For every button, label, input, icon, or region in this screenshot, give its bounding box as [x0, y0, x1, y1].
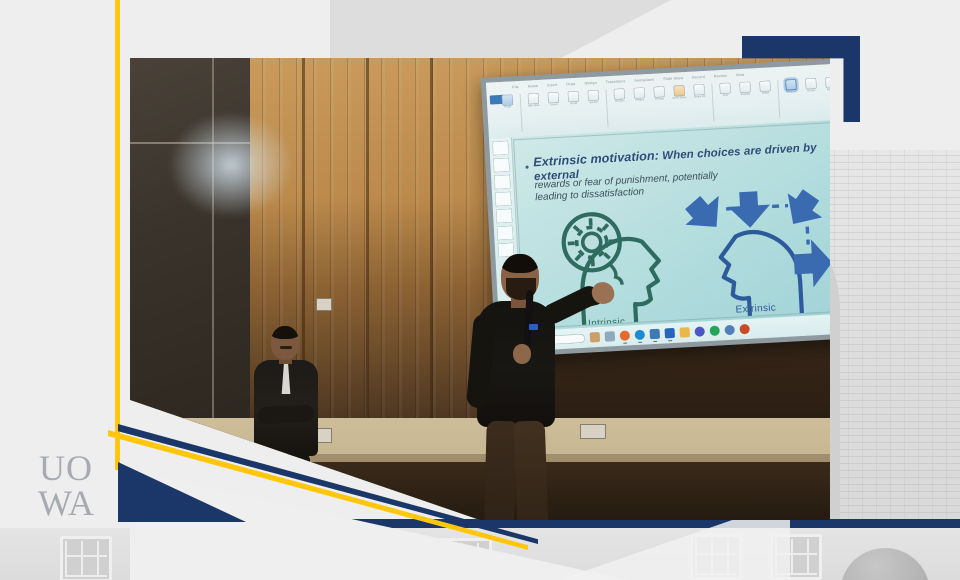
folder-icon[interactable]	[679, 327, 690, 338]
reset-icon	[568, 91, 580, 103]
inward-arrows-icon	[676, 185, 830, 295]
settings-icon[interactable]	[724, 325, 735, 336]
ribbon-button-quick-styles[interactable]: Quick Styles	[671, 85, 687, 101]
quick-styles-icon	[673, 85, 685, 97]
widgets-icon[interactable]	[590, 332, 601, 343]
uowa-logo: UO WA	[30, 452, 102, 520]
ribbon-tab[interactable]: File	[512, 85, 519, 89]
ribbon-tab[interactable]: Review	[714, 73, 727, 78]
attendee-arms-crossed	[258, 405, 315, 425]
ribbon-button-find[interactable]: Find	[717, 82, 733, 98]
ribbon-tab[interactable]: Insert	[547, 82, 557, 87]
arrange-icon	[653, 86, 665, 98]
slide-thumbnail[interactable]	[496, 209, 513, 224]
teams-icon[interactable]	[694, 326, 705, 337]
dark-tile-wall	[130, 58, 250, 426]
add-ins-icon	[825, 77, 830, 89]
slide-thumbnail[interactable]	[494, 175, 511, 190]
powerpoint-icon[interactable]	[739, 324, 750, 335]
file-explorer-icon[interactable]	[605, 331, 616, 342]
section-icon	[588, 90, 600, 102]
ribbon-button-shapes[interactable]: Shapes	[631, 87, 647, 103]
ribbon-button-replace[interactable]: Replace	[737, 81, 753, 97]
ribbon-button-shape-fill[interactable]: Shape Fill	[691, 84, 707, 100]
ribbon-button-reset[interactable]: Reset	[566, 91, 582, 107]
ribbon-tab[interactable]: Draw	[566, 81, 575, 85]
attendee-hair	[271, 326, 299, 339]
find-icon	[719, 83, 731, 95]
firefox-icon[interactable]	[620, 330, 631, 341]
text-box-icon	[613, 88, 625, 100]
ribbon-group-drawing: Text Box Shapes Arrange	[606, 84, 714, 128]
slide-thumbnail[interactable]	[497, 226, 514, 241]
outlook-icon[interactable]	[665, 328, 676, 339]
ribbon-button-layout[interactable]: Layout	[546, 92, 562, 108]
select-icon	[759, 80, 771, 92]
ribbon-group-designer: Designer Dictate Add-ins	[778, 75, 830, 118]
panel-joint	[366, 58, 369, 426]
shrub	[840, 548, 930, 580]
slide-thumbnail[interactable]	[495, 192, 512, 207]
navy-divider-rule	[300, 519, 960, 528]
store-icon[interactable]	[650, 329, 661, 340]
yellow-vertical-accent	[115, 0, 120, 470]
new-slide-icon	[528, 93, 540, 105]
slide-thumbnail[interactable]	[492, 141, 509, 156]
ribbon-tab[interactable]: Record	[692, 74, 705, 79]
presenter-leg-right	[514, 420, 550, 520]
presenter-mic-hand	[513, 344, 531, 364]
ribbon-button-new-slide[interactable]: New Slide	[526, 93, 542, 109]
extrinsic-label: Extrinsic	[735, 302, 776, 315]
wall-socket-plate	[580, 424, 606, 439]
attendee-moustache	[280, 346, 292, 349]
ribbon-tab[interactable]: Transitions	[606, 79, 626, 84]
ribbon-button-add-ins[interactable]: Add-ins	[823, 77, 830, 93]
ribbon-tab[interactable]: View	[736, 72, 745, 76]
ribbon-tab[interactable]: Animations	[634, 77, 654, 82]
presenter-hair	[501, 254, 539, 273]
ribbon-button-paste[interactable]: Paste	[500, 94, 516, 110]
event-photo: File Home Insert Draw Design Transitions…	[130, 58, 830, 520]
ribbon-button-dictate[interactable]: Dictate	[803, 78, 819, 94]
gear-icon	[566, 217, 617, 268]
ribbon-button-select[interactable]: Select	[757, 80, 773, 96]
whatsapp-icon[interactable]	[709, 325, 720, 336]
edge-icon[interactable]	[635, 330, 646, 341]
lightbulb-base-icon	[609, 263, 622, 286]
paste-icon	[502, 94, 514, 106]
bullet-marker	[526, 166, 529, 169]
ribbon-tab[interactable]: Home	[528, 83, 539, 88]
ribbon-group-clipboard: Paste	[495, 94, 523, 133]
logo-line-1: UO	[30, 452, 102, 485]
ribbon-button-designer[interactable]: Designer	[783, 79, 799, 95]
ribbon-group-editing: Find Replace Select	[712, 80, 780, 122]
replace-icon	[739, 81, 751, 93]
presenter-badge	[529, 324, 538, 330]
ribbon-tab[interactable]: Design	[584, 80, 597, 85]
panel-joint	[430, 58, 433, 426]
ribbon-group-slides: New Slide Layout Reset	[521, 89, 609, 132]
ribbon-button-text-box[interactable]: Text Box	[611, 88, 627, 104]
layout-icon	[548, 92, 560, 104]
motivation-diagram: Intrinsic Extrinsic	[543, 185, 830, 301]
slide-bullet-lead: Extrinsic motivation:	[533, 149, 659, 170]
microphone-icon	[805, 78, 817, 90]
shapes-icon	[633, 87, 645, 99]
light-reflection	[166, 110, 296, 220]
ribbon-tab[interactable]: Slide Show	[663, 76, 683, 81]
presenter-legs	[483, 421, 551, 520]
wall-switch-plate	[316, 298, 332, 311]
facade-window	[60, 536, 112, 580]
slide-thumbnail[interactable]	[493, 158, 510, 173]
logo-line-2: WA	[30, 487, 102, 520]
attendee-head	[271, 326, 299, 360]
poster-canvas: File Home Insert Draw Design Transitions…	[0, 0, 960, 580]
designer-icon	[785, 79, 797, 91]
presenter-leg-left	[483, 421, 516, 520]
ribbon-button-section[interactable]: Section	[586, 90, 602, 106]
shape-fill-icon	[693, 84, 705, 96]
ribbon-button-arrange[interactable]: Arrange	[651, 86, 667, 102]
